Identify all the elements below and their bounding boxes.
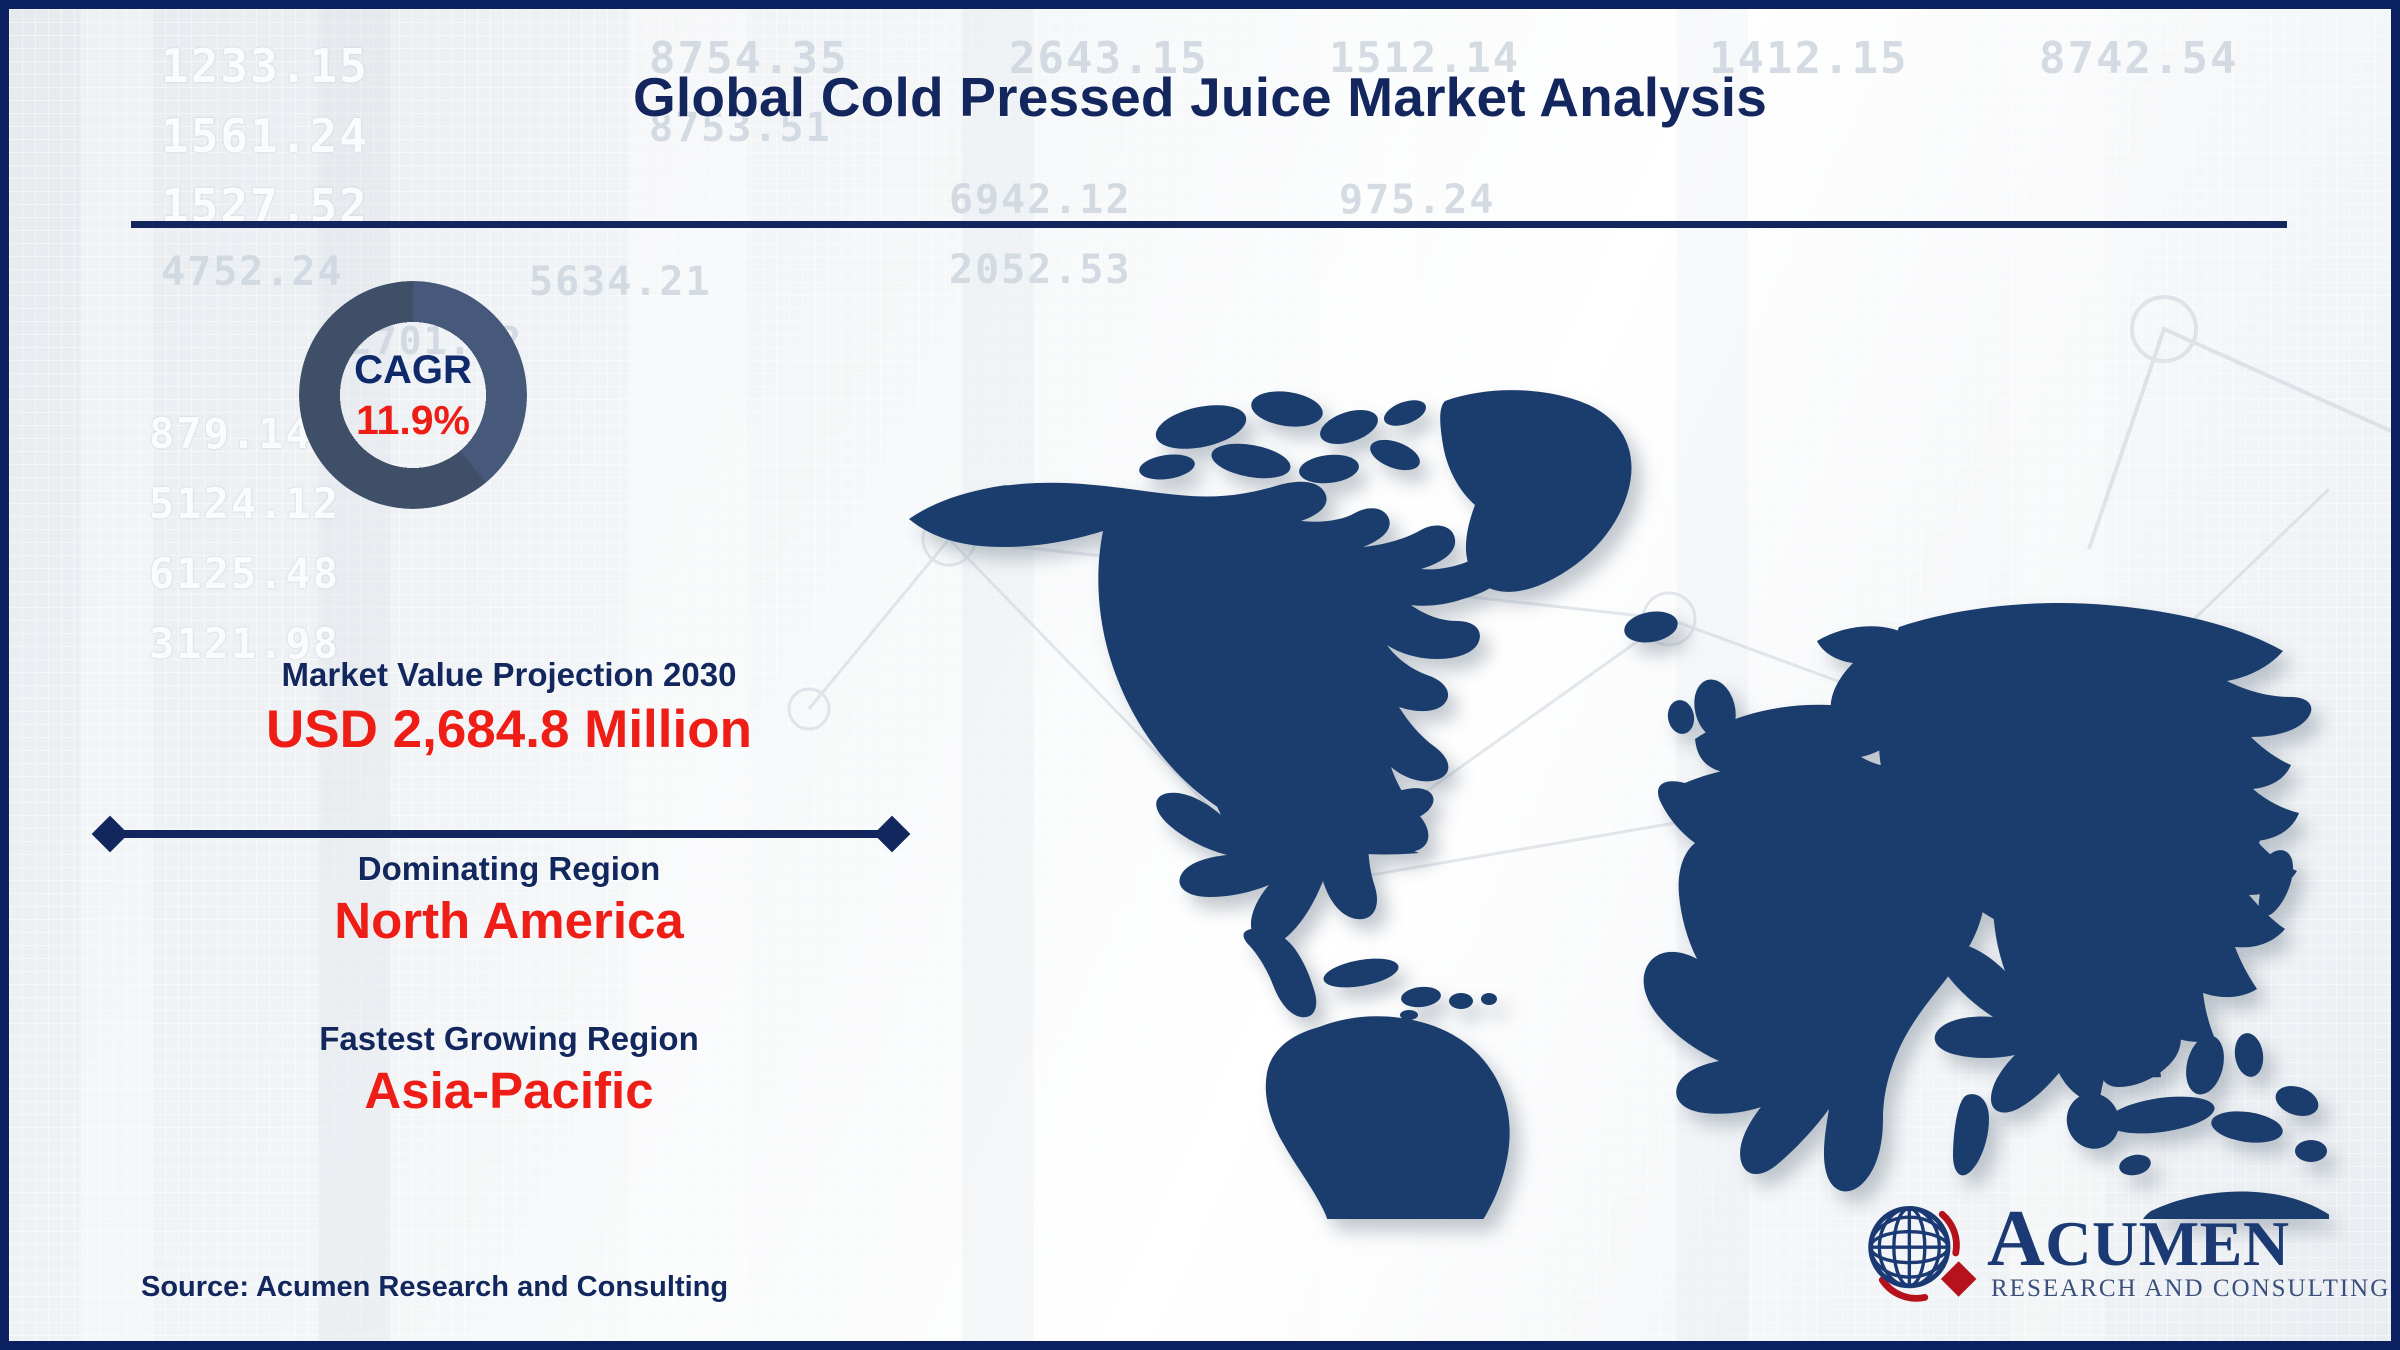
background-ticker-number: 5634.21 bbox=[529, 259, 712, 305]
stat-value: USD 2,684.8 Million bbox=[69, 701, 949, 759]
logo-initial: A bbox=[1987, 1195, 2045, 1283]
infographic-page: 1233.15 1561.24 1527.52 4752.24 879.14 5… bbox=[0, 0, 2400, 1350]
source-note: Source: Acumen Research and Consulting bbox=[141, 1271, 728, 1304]
stat-label: Dominating Region bbox=[69, 851, 949, 887]
globe-icon bbox=[1861, 1193, 1977, 1309]
page-title: Global Cold Pressed Juice Market Analysi… bbox=[9, 65, 2391, 129]
stat-label: Market Value Projection 2030 bbox=[69, 657, 949, 693]
logo-tagline: RESEARCH AND CONSULTING bbox=[1991, 1275, 2390, 1303]
logo-wordmark: ACUMEN bbox=[1987, 1199, 2290, 1279]
logo-name: CUMEN bbox=[2045, 1208, 2289, 1279]
background-ticker-number: 2052.53 bbox=[949, 247, 1132, 293]
cagr-label: CAGR bbox=[354, 350, 472, 390]
diamond-divider bbox=[97, 817, 905, 851]
stat-fastest-growing-region: Fastest Growing Region Asia-Pacific bbox=[69, 1021, 949, 1119]
background-ticker-number: 6942.12 bbox=[949, 177, 1132, 223]
stat-value: North America bbox=[69, 893, 949, 949]
divider-bar bbox=[115, 830, 887, 838]
donut-center: CAGR 11.9% bbox=[339, 321, 487, 469]
world-map-graphic bbox=[849, 309, 2329, 1219]
cagr-value: 11.9% bbox=[356, 400, 470, 441]
stat-dominating-region: Dominating Region North America bbox=[69, 851, 949, 949]
background-ticker-number: 975.24 bbox=[1339, 177, 1496, 223]
acumen-logo[interactable]: ACUMEN RESEARCH AND CONSULTING bbox=[1861, 1191, 2331, 1311]
title-divider bbox=[131, 221, 2287, 228]
background-ticker-number: 6125.48 bbox=[149, 549, 340, 598]
stat-label: Fastest Growing Region bbox=[69, 1021, 949, 1057]
stat-market-value-projection: Market Value Projection 2030 USD 2,684.8… bbox=[69, 657, 949, 760]
stat-value: Asia-Pacific bbox=[69, 1063, 949, 1119]
map-landmasses bbox=[909, 387, 2329, 1219]
background-ticker-number: 879.14 bbox=[149, 409, 313, 458]
cagr-donut-chart: CAGR 11.9% bbox=[299, 281, 527, 509]
